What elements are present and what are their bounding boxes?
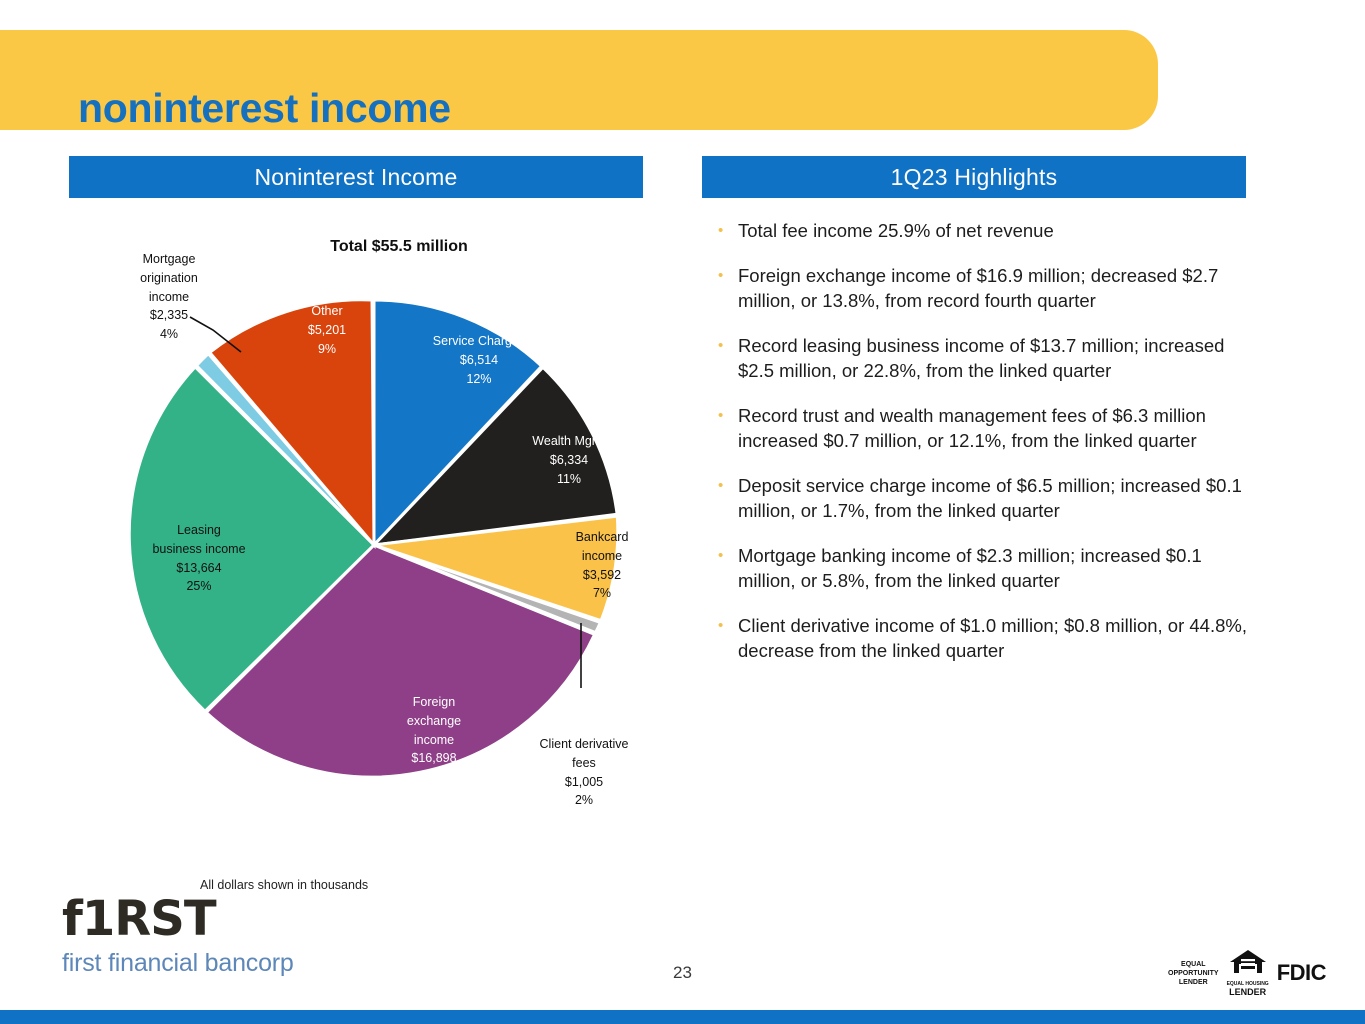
bullet-icon: •: [702, 473, 738, 523]
pie-label-foreign-exchange-income: Foreign exchange income $16,898 30%: [369, 693, 499, 787]
list-item: • Record leasing business income of $13.…: [702, 333, 1262, 383]
bullet-icon: •: [702, 263, 738, 313]
pie-label-leasing-business-income: Leasing business income $13,664 25%: [109, 521, 289, 596]
pie-callout-client-derivative-fees: Client derivative fees $1,005 2%: [509, 735, 659, 810]
list-item: • Record trust and wealth management fee…: [702, 403, 1262, 453]
list-item: • Deposit service charge income of $6.5 …: [702, 473, 1262, 523]
list-item: • Total fee income 25.9% of net revenue: [702, 218, 1262, 243]
list-item: • Client derivative income of $1.0 milli…: [702, 613, 1262, 663]
equal-housing-lender-logo: EQUAL HOUSING LENDER: [1227, 949, 1269, 997]
pie-callout-mortgage-origination-income: Mortgage origination income $2,335 4%: [104, 250, 234, 344]
equal-housing-lender-label: LENDER: [1227, 987, 1269, 997]
bullet-icon: •: [702, 613, 738, 663]
list-item: • Foreign exchange income of $16.9 milli…: [702, 263, 1262, 313]
bullet-icon: •: [702, 543, 738, 593]
equal-opportunity-lender-text: EQUAL OPPORTUNITY LENDER: [1168, 960, 1219, 987]
logo-wordmark: f1RST: [62, 895, 322, 943]
highlight-text: Mortgage banking income of $2.3 million;…: [738, 543, 1262, 593]
section-header-noninterest-income: Noninterest Income: [69, 156, 643, 198]
fdic-logo: FDIC: [1277, 960, 1326, 986]
bullet-icon: •: [702, 403, 738, 453]
pie-label-bankcard-income: Bankcard income $3,592 7%: [547, 528, 657, 603]
highlights-list: • Total fee income 25.9% of net revenue …: [702, 218, 1262, 683]
bullet-icon: •: [702, 333, 738, 383]
highlight-text: Record leasing business income of $13.7 …: [738, 333, 1262, 383]
house-icon: [1228, 949, 1268, 976]
chart-footnote: All dollars shown in thousands: [200, 878, 368, 892]
bullet-icon: •: [702, 218, 738, 243]
bottom-accent-bar: [0, 1010, 1365, 1024]
list-item: • Mortgage banking income of $2.3 millio…: [702, 543, 1262, 593]
pie-label-wealth-mgmt: Wealth Mgmt $6,334 11%: [499, 432, 639, 488]
highlight-text: Foreign exchange income of $16.9 million…: [738, 263, 1262, 313]
highlight-text: Deposit service charge income of $6.5 mi…: [738, 473, 1262, 523]
regulatory-footer: EQUAL OPPORTUNITY LENDER EQUAL HOUSING L…: [1168, 949, 1326, 997]
highlight-text: Total fee income 25.9% of net revenue: [738, 218, 1262, 243]
pie-label-other: Other $5,201 9%: [267, 302, 387, 358]
highlight-text: Record trust and wealth management fees …: [738, 403, 1262, 453]
pie-chart-container: Total $55.5 million Service Charges $6,5…: [69, 210, 669, 830]
slide-title-banner: noninterest income: [0, 30, 1158, 130]
highlight-text: Client derivative income of $1.0 million…: [738, 613, 1262, 663]
section-header-highlights: 1Q23 Highlights: [702, 156, 1246, 198]
page-title: noninterest income: [78, 88, 451, 129]
pie-label-service-charges: Service Charges $6,514 12%: [399, 332, 559, 388]
page-number: 23: [0, 963, 1365, 983]
